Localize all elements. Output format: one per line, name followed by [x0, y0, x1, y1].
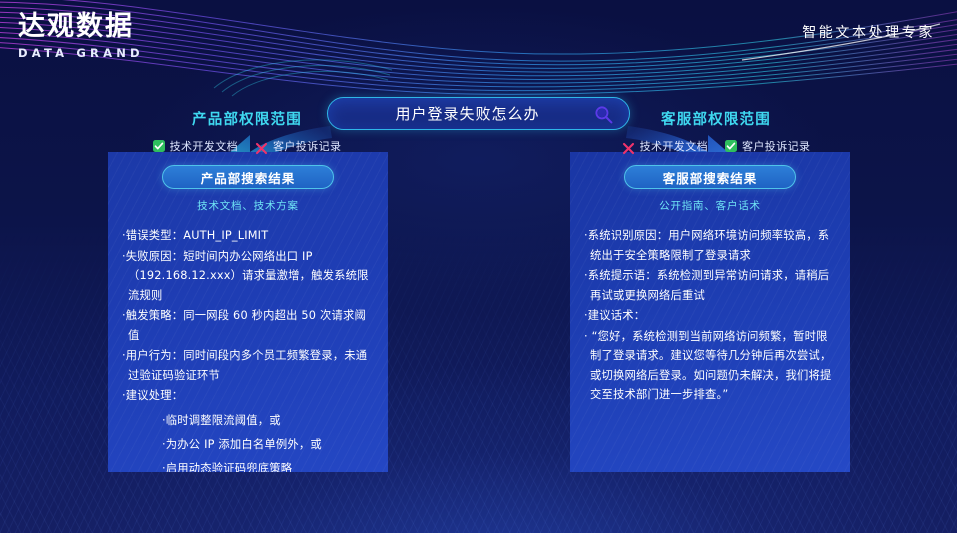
panel-pill-label: 客服部搜索结果: [663, 168, 758, 187]
list-item: ·触发策略：同一网段 60 秒内超出 50 次请求阈值: [122, 306, 374, 345]
cross-icon: [622, 140, 635, 153]
panel-pill-service[interactable]: 客服部搜索结果: [624, 165, 796, 189]
permission-item-tech-doc-right: 技术开发文档: [622, 138, 708, 154]
permission-label: 客户投诉记录: [742, 138, 810, 154]
permission-item-complaint-right: 客户投诉记录: [725, 138, 810, 154]
search-bar[interactable]: 用户登录失败怎么办: [327, 97, 630, 130]
check-icon: [153, 140, 165, 152]
check-icon: [725, 140, 737, 152]
permission-label: 技术开发文档: [640, 138, 708, 154]
permission-row-right: 技术开发文档 客户投诉记录: [592, 138, 840, 154]
list-item: ·系统提示语：系统检测到异常访问请求，请稍后再试或更换网络后重试: [584, 266, 836, 305]
list-item: ·系统识别原因：用户网络环境访问频率较高，系统出于安全策略限制了登录请求: [584, 226, 836, 265]
search-icon[interactable]: [594, 105, 613, 124]
list-item: ·启用动态验证码兜底策略: [162, 457, 374, 473]
list-item: ·错误类型：AUTH_IP_LIMIT: [122, 226, 374, 246]
panel-subtitle-product: 技术文档、技术方案: [122, 198, 374, 213]
list-item: ·用户行为：同时间段内多个员工频繁登录，未通过验证码验证环节: [122, 346, 374, 385]
logo-chinese-text: 达观数据: [18, 12, 144, 42]
panel-sub-list-product: ·临时调整限流阈值，或 ·为办公 IP 添加白名单例外，或 ·启用动态验证码兜底…: [122, 409, 374, 473]
panel-body-service: ·系统识别原因：用户网络环境访问频率较高，系统出于安全策略限制了登录请求 ·系统…: [584, 226, 836, 405]
list-item: ·临时调整限流阈值，或: [162, 409, 374, 433]
panel-subtitle-service: 公开指南、客户话术: [584, 198, 836, 213]
cross-icon: [255, 140, 268, 153]
page-header: 达观数据 DATA GRAND 智能文本处理专家: [0, 0, 957, 70]
result-panel-service: 客服部搜索结果 公开指南、客户话术 ·系统识别原因：用户网络环境访问频率较高，系…: [570, 152, 850, 472]
list-item: ·失败原因：短时间内办公网络出口 IP（192.168.12.xxx）请求量激增…: [122, 247, 374, 306]
list-item: ·为办公 IP 添加白名单例外，或: [162, 433, 374, 457]
search-input[interactable]: 用户登录失败怎么办: [395, 103, 539, 124]
panel-body-product: ·错误类型：AUTH_IP_LIMIT ·失败原因：短时间内办公网络出口 IP（…: [122, 226, 374, 472]
permission-label: 技术开发文档: [170, 138, 238, 154]
panel-pill-product[interactable]: 产品部搜索结果: [162, 165, 334, 189]
list-item: ·建议处理：: [122, 386, 374, 406]
suggested-script-text: · “您好，系统检测到当前网络访问频繁，暂时限制了登录请求。建议您等待几分钟后再…: [584, 327, 836, 405]
brand-logo: 达观数据 DATA GRAND: [18, 12, 144, 60]
logo-english-text: DATA GRAND: [18, 46, 144, 60]
permission-label: 客户投诉记录: [273, 138, 341, 154]
permission-row-left: 技术开发文档 客户投诉记录: [123, 138, 371, 154]
result-panel-product: 产品部搜索结果 技术文档、技术方案 ·错误类型：AUTH_IP_LIMIT ·失…: [108, 152, 388, 472]
permission-item-complaint-left: 客户投诉记录: [255, 138, 341, 154]
list-item: ·建议话术：: [584, 306, 836, 326]
panel-pill-label: 产品部搜索结果: [201, 168, 296, 187]
header-tagline: 智能文本处理专家: [802, 22, 935, 42]
permission-item-tech-doc-left: 技术开发文档: [153, 138, 238, 154]
